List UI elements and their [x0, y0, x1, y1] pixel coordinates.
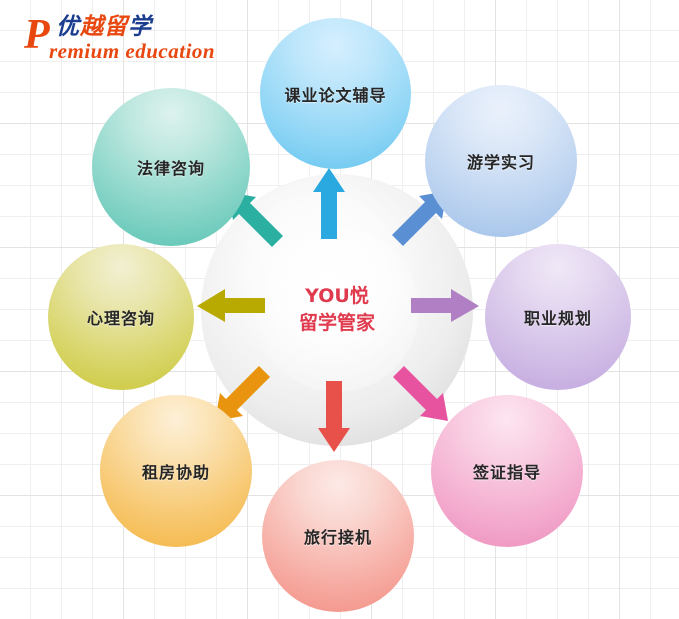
hub-title-line-2: 留学管家	[299, 310, 375, 337]
bubble-career-planning[interactable]: 职业规划	[485, 244, 631, 390]
bubble-label: 租房协助	[142, 459, 210, 483]
diagram-canvas: P 优越留学 remium education	[0, 0, 679, 619]
bubble-academic-tutoring[interactable]: 课业论文辅导	[260, 18, 411, 169]
logo-mark-p: P	[24, 14, 48, 56]
logo-english-text: remium education	[49, 40, 215, 62]
bubble-housing-assistance[interactable]: 租房协助	[100, 395, 252, 547]
bubble-visa-guidance[interactable]: 签证指导	[431, 395, 583, 547]
bubble-label: 课业论文辅导	[284, 82, 386, 106]
bubble-psychological-counseling[interactable]: 心理咨询	[48, 244, 194, 390]
bubble-study-tour-internship[interactable]: 游学实习	[425, 85, 577, 237]
bubble-label: 法律咨询	[137, 155, 205, 179]
hub-title-line-1: YOU悦	[305, 283, 369, 310]
bubble-label: 旅行接机	[304, 524, 372, 548]
bubble-legal-consultation[interactable]: 法律咨询	[92, 88, 250, 246]
bubble-label: 游学实习	[467, 149, 535, 173]
bubble-label: 心理咨询	[87, 305, 155, 329]
bubble-label: 签证指导	[473, 459, 541, 483]
bubble-label: 职业规划	[524, 305, 592, 329]
hub-inner-circle: YOU悦 留学管家	[255, 228, 419, 392]
bubble-travel-pickup[interactable]: 旅行接机	[262, 460, 414, 612]
brand-logo: P 优越留学 remium education	[24, 14, 264, 62]
logo-chinese-text: 优越留学	[56, 15, 152, 39]
